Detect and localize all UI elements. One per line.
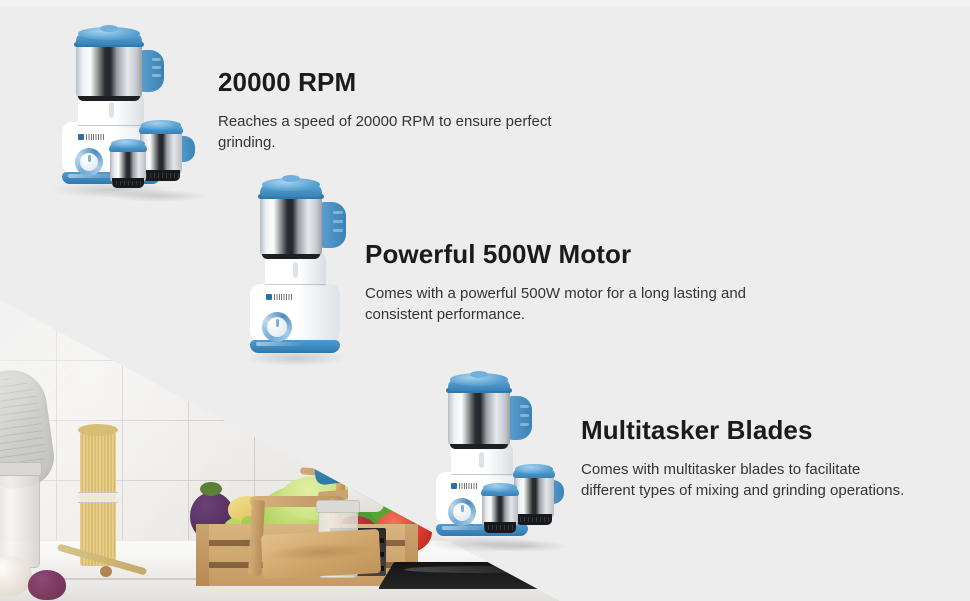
feature-description: Reaches a speed of 20000 RPM to ensure p… <box>218 111 578 154</box>
jar-lid-knob[interactable] <box>100 25 118 32</box>
crate-knob <box>100 566 112 577</box>
jar-body <box>514 476 554 518</box>
product-shadow <box>480 540 568 552</box>
feature-block-3: Multitasker Blades Comes with multitaske… <box>424 368 564 548</box>
jar-lid-top <box>141 120 181 130</box>
brand-wordmark <box>274 294 293 300</box>
feature-text-2: Powerful 500W Motor Comes with a powerfu… <box>365 240 815 325</box>
feature-description: Comes with a powerful 500W motor for a l… <box>365 283 815 326</box>
brand-wordmark <box>86 134 105 140</box>
vent-slot <box>479 452 484 468</box>
speed-knob-indicator <box>461 505 464 512</box>
jar-body <box>260 196 322 258</box>
vent-slot <box>109 102 114 118</box>
speed-knob-indicator <box>88 155 91 162</box>
jar-base-ridge <box>142 173 180 178</box>
product-image-2 <box>240 172 350 362</box>
jar-base-ridge <box>516 517 552 522</box>
eggplant-stem <box>200 482 222 496</box>
jar-handle-notch <box>520 405 529 408</box>
feature-description: Comes with multitasker blades to facilit… <box>581 459 911 502</box>
beetroot <box>28 570 66 600</box>
spaghetti-band <box>78 492 118 503</box>
base-foot-highlight <box>256 342 304 346</box>
jar-bottom <box>78 96 140 101</box>
brand-wordmark <box>459 483 478 489</box>
brand-mark-icon <box>78 134 84 140</box>
jar-body <box>448 390 510 448</box>
brand-logo <box>78 134 104 140</box>
jar-handle-notch <box>152 58 161 61</box>
motor-base <box>250 284 340 346</box>
jar-lid-top <box>515 464 553 474</box>
product-image-1 <box>48 22 208 194</box>
feature-block-2: Powerful 500W Motor Comes with a powerfu… <box>240 172 350 362</box>
jar-handle-notch <box>333 220 343 223</box>
speed-knob-indicator <box>276 319 279 327</box>
jar-handle-notch <box>152 74 161 77</box>
blue-mug <box>312 442 362 485</box>
feature-title: 20000 RPM <box>218 68 578 97</box>
brand-mark-icon <box>266 294 272 300</box>
mug-stand-peg <box>361 421 380 434</box>
glass-pasta-jar <box>0 470 40 568</box>
jar-lid-knob[interactable] <box>470 371 488 378</box>
cooktop-reflection <box>404 566 554 573</box>
jar-bottom <box>262 254 320 259</box>
feature-title: Multitasker Blades <box>581 416 911 445</box>
crate-post <box>196 524 209 586</box>
jar-handle[interactable] <box>140 50 164 92</box>
jar-handle[interactable] <box>320 202 346 248</box>
body-seam <box>265 284 326 285</box>
feature-text-3: Multitasker Blades Comes with multitaske… <box>581 416 911 501</box>
jar-base-ridge <box>484 525 516 530</box>
jar-bottom <box>450 444 508 449</box>
pasta-jar-lid <box>0 462 42 476</box>
brand-logo <box>451 483 477 489</box>
jar-body <box>76 44 142 100</box>
body-seam <box>451 474 513 475</box>
top-highlight-strip <box>0 0 970 7</box>
spaghetti-top <box>78 424 118 436</box>
wall-hook-dot <box>10 228 17 235</box>
jar-lid-knob[interactable] <box>282 175 300 182</box>
jar-handle[interactable] <box>508 396 532 440</box>
jar-lid-top <box>483 483 517 492</box>
product-shadow <box>110 190 206 202</box>
jar-handle-notch <box>520 414 529 417</box>
jar-handle-notch <box>152 66 161 69</box>
jar-body <box>140 132 182 174</box>
jar-handle-notch <box>333 229 343 232</box>
jar-lid-top <box>111 139 145 148</box>
feature-title: Powerful 500W Motor <box>365 240 815 269</box>
feature-text-1: 20000 RPM Reaches a speed of 20000 RPM t… <box>218 68 578 153</box>
vent-slot <box>293 262 298 278</box>
wall-hook-icon <box>4 222 28 246</box>
body-seam <box>78 125 144 126</box>
small-glass-jar-lid <box>316 500 360 513</box>
brand-mark-icon <box>451 483 457 489</box>
jar-handle-notch <box>520 423 529 426</box>
product-image-3 <box>424 368 564 548</box>
blue-mug-rim <box>313 440 362 455</box>
mug-stand-arm <box>296 426 374 446</box>
blue-mug-handle <box>354 450 384 483</box>
jar-base-ridge <box>112 181 144 185</box>
brand-logo <box>266 294 292 300</box>
jar-handle-notch <box>333 211 343 214</box>
induction-cooktop <box>378 562 620 589</box>
product-feature-banner: 20000 RPM Reaches a speed of 20000 RPM t… <box>0 0 970 601</box>
feature-block-1: 20000 RPM Reaches a speed of 20000 RPM t… <box>48 22 208 194</box>
